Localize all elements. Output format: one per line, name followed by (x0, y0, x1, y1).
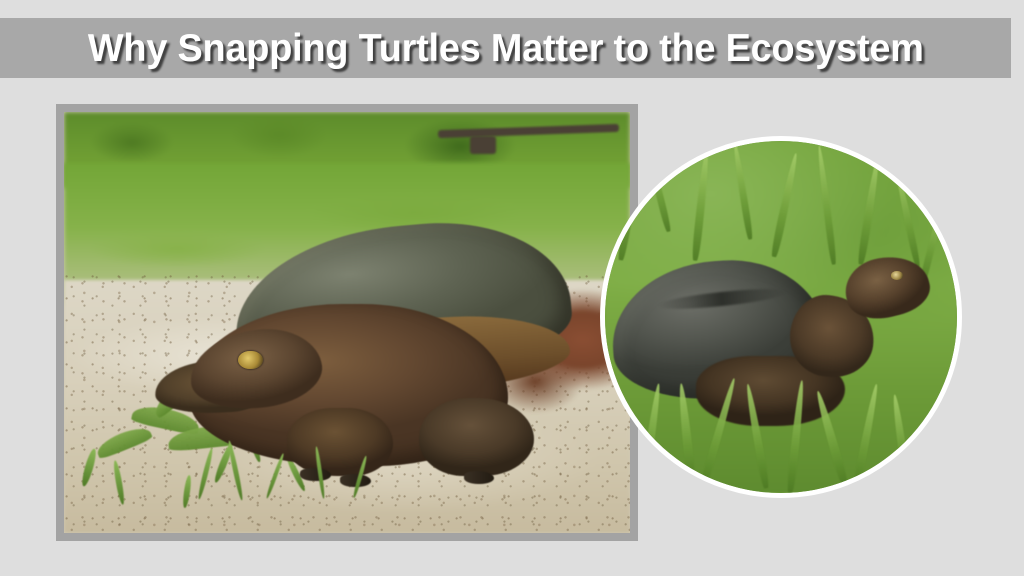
turtle-eye (238, 351, 262, 369)
title-banner: Why Snapping Turtles Matter to the Ecosy… (0, 18, 1011, 78)
wooden-bench (438, 116, 619, 154)
inset-photo (600, 136, 962, 498)
snapping-turtle-inset (612, 247, 936, 423)
slide-canvas: Why Snapping Turtles Matter to the Ecosy… (0, 0, 1024, 576)
page-title: Why Snapping Turtles Matter to the Ecosy… (88, 29, 924, 68)
foreground-grass-tufts (189, 432, 438, 508)
main-photo-frame (56, 104, 638, 541)
turtle-claw (464, 471, 495, 484)
main-photo (64, 112, 630, 533)
